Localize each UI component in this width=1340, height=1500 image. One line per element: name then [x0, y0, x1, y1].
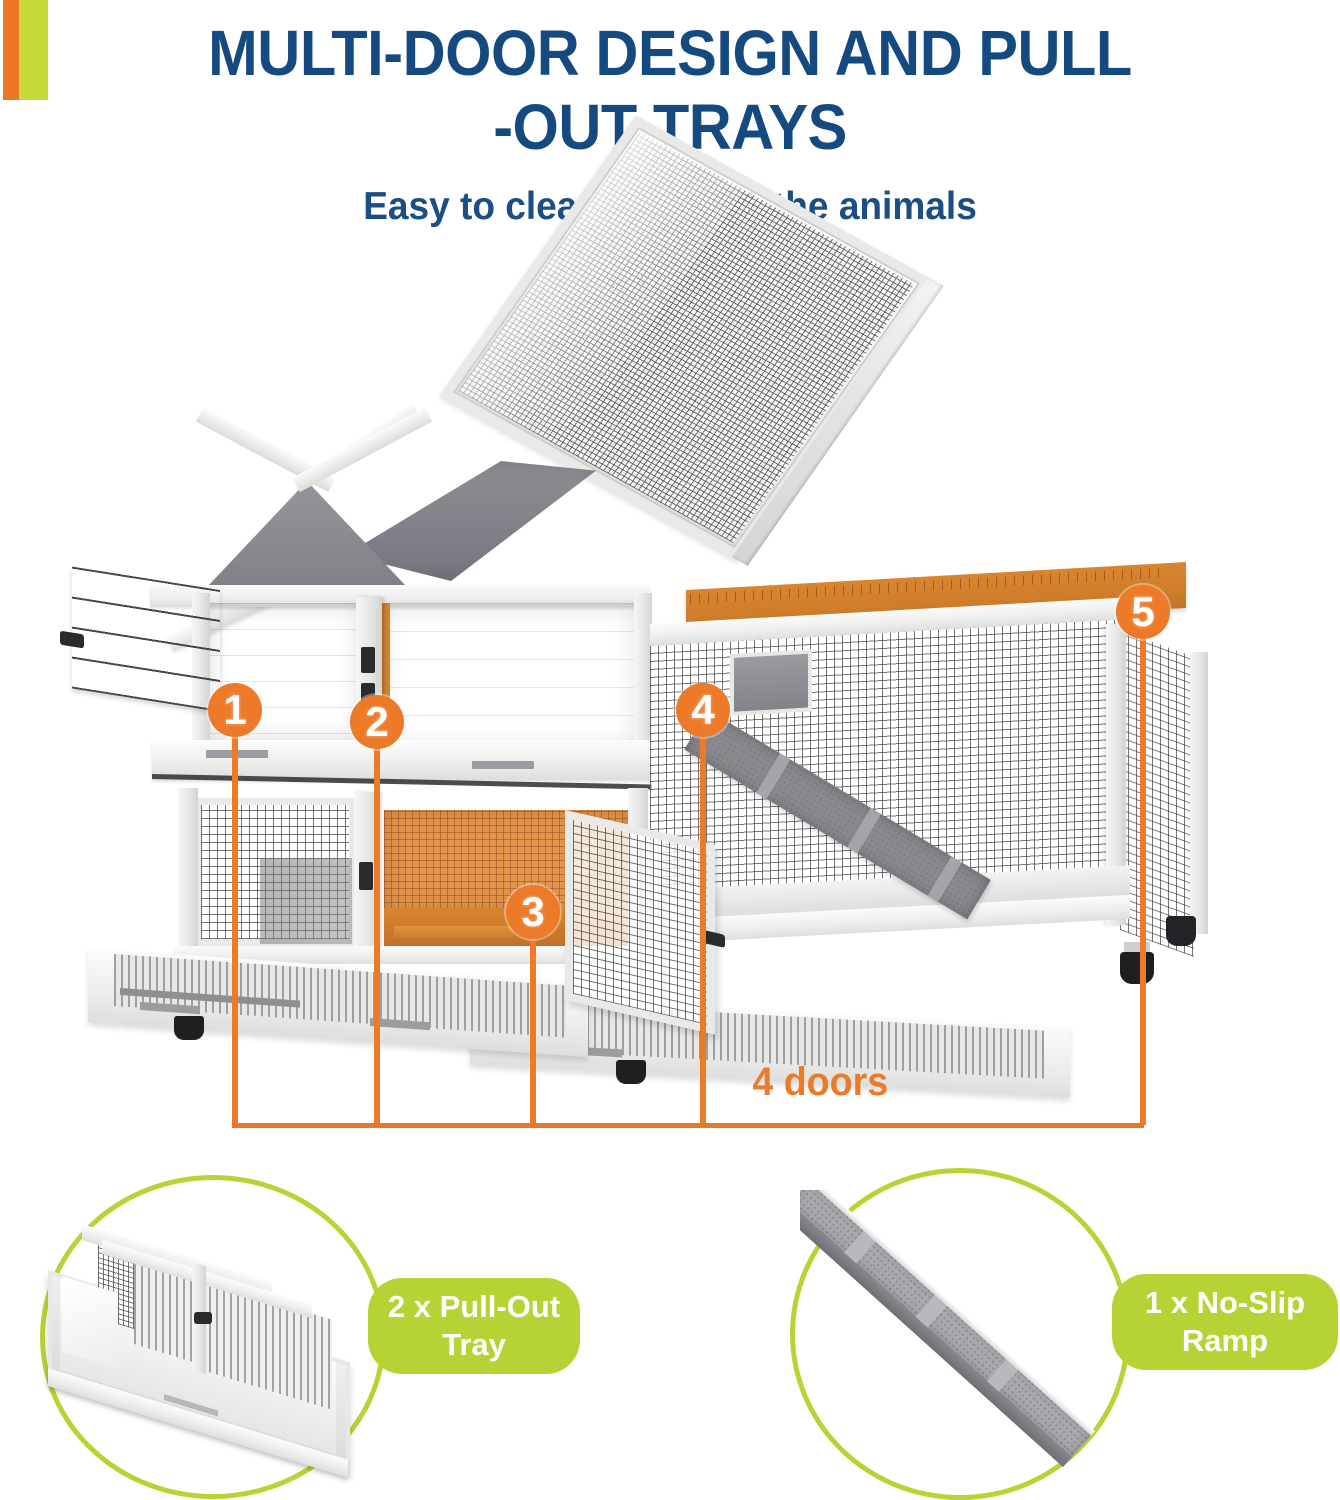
callout-badge-4[interactable]: 4: [676, 683, 730, 737]
feature-cards: 2 x Pull-Out Tray: [0, 1160, 1340, 1500]
run-small-hatch[interactable]: [730, 649, 812, 716]
leader-line-2: [374, 740, 380, 1125]
card-1-label-line-1: 2 x Pull-Out: [388, 1288, 560, 1326]
card-1-label-line-2: Tray: [388, 1326, 560, 1364]
caster-right-back: [1166, 908, 1196, 946]
upper-orange-interior-right: [378, 603, 640, 751]
card-2-label-pill: 1 x No-Slip Ramp: [1112, 1274, 1338, 1370]
pull-out-tray-photo: [42, 1218, 362, 1448]
page-title-line-1: MULTI-DOOR DESIGN AND PULL: [47, 0, 1293, 90]
upper-pull-out-tray-slot[interactable]: [152, 740, 652, 780]
wire-mesh-run: [650, 590, 1210, 1010]
feature-card-no-slip-ramp: 1 x No-Slip Ramp: [670, 1160, 1340, 1500]
callout-badge-3[interactable]: 3: [506, 885, 560, 939]
lower-pull-out-tray-left[interactable]: [88, 940, 588, 1030]
door-latch-lower[interactable]: [359, 862, 373, 890]
leader-line-4: [700, 730, 706, 1125]
door-latch-upper-1[interactable]: [361, 647, 375, 673]
card-2-label-line-2: Ramp: [1145, 1322, 1305, 1360]
card-2-label-line-1: 1 x No-Slip: [1145, 1284, 1305, 1322]
leader-line-3: [530, 930, 536, 1125]
product-illustration: 4 doors 1 2 3 4 5: [0, 240, 1340, 1150]
doors-count-label: 4 doors: [752, 1060, 888, 1105]
caster-left-front: [174, 1016, 204, 1040]
callout-bracket: [232, 1123, 1144, 1128]
caster-right-front: [1120, 942, 1154, 984]
no-slip-ramp-photo: [800, 1190, 1120, 1470]
callout-badge-2[interactable]: 2: [350, 695, 404, 749]
side-vent-flap[interactable]: [72, 567, 220, 712]
callout-badge-5[interactable]: 5: [1116, 585, 1170, 639]
vent-flap-latch[interactable]: [60, 631, 84, 649]
feature-card-pull-out-tray: 2 x Pull-Out Tray: [0, 1160, 670, 1500]
infographic-page: MULTI-DOOR DESIGN AND PULL -OUT TRAYS Ea…: [0, 0, 1340, 1500]
lower-mesh-door-open[interactable]: [565, 810, 715, 1035]
card-1-label-pill: 2 x Pull-Out Tray: [368, 1278, 580, 1374]
callout-badge-1[interactable]: 1: [208, 683, 262, 737]
gable-roof: [150, 455, 630, 605]
caster-mid: [616, 1060, 646, 1084]
tray-handle-upper-right[interactable]: [472, 761, 534, 769]
card-1-tray-latch: [194, 1312, 212, 1324]
leader-line-5: [1140, 630, 1146, 1125]
leader-line-1: [232, 730, 238, 1125]
